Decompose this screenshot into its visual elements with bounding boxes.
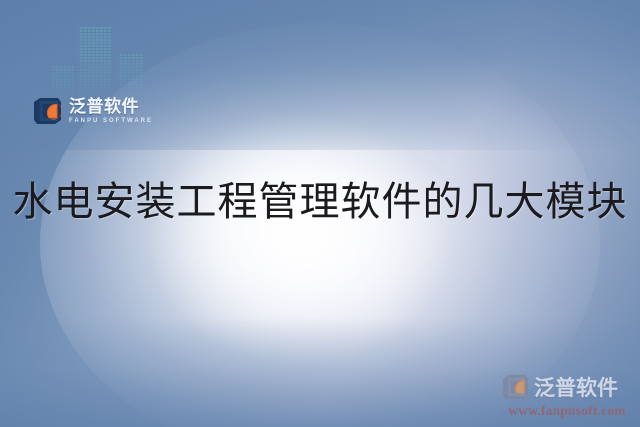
watermark: 泛普软件 www.fanpusoft.com <box>500 372 634 419</box>
brand-text-group: 泛普软件 FANPU SOFTWARE <box>69 98 153 124</box>
watermark-brand-row: 泛普软件 <box>500 372 634 402</box>
fanpu-hexagon-logo-icon <box>502 374 529 400</box>
brand-logo: 泛普软件 FANPU SOFTWARE <box>33 97 153 125</box>
brand-name-en: FANPU SOFTWARE <box>69 118 153 124</box>
cityscape-dot-pattern-icon <box>52 27 148 101</box>
fanpu-hexagon-logo-icon <box>33 97 62 125</box>
center-glow-core <box>151 114 451 364</box>
slide-canvas: 泛普软件 FANPU SOFTWARE 水电安装工程管理软件的几大模块 泛普软件… <box>0 0 640 427</box>
brand-name-cn: 泛普软件 <box>69 98 153 115</box>
page-title: 水电安装工程管理软件的几大模块 <box>0 176 640 228</box>
watermark-brand-cn: 泛普软件 <box>534 372 618 402</box>
watermark-url: www.fanpusoft.com <box>500 403 634 419</box>
top-color-band <box>0 0 640 150</box>
